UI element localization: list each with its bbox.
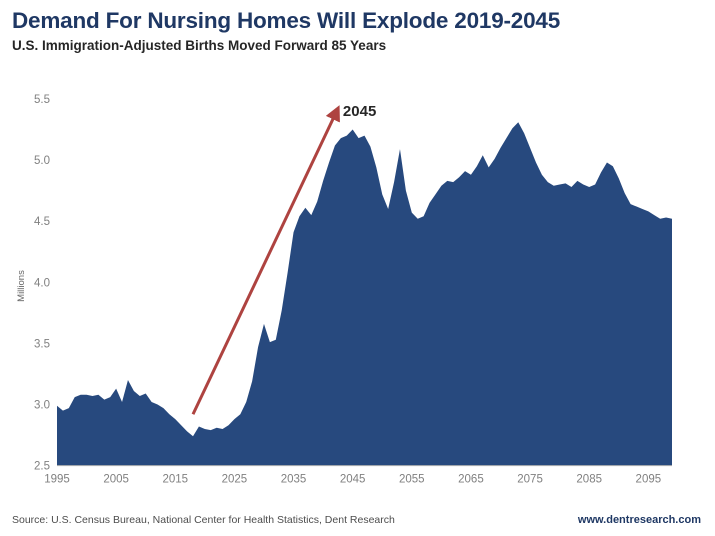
x-axis-ticks: 1995200520152025203520452055206520752085… — [44, 474, 661, 486]
x-tick-label: 2075 — [517, 474, 543, 486]
plot-area: 2.53.03.54.04.55.05.5 199520052015202520… — [0, 80, 715, 495]
x-tick-label: 1995 — [44, 474, 70, 486]
y-axis-ticks: 2.53.03.54.04.55.05.5 — [34, 94, 50, 473]
y-tick-label: 3.0 — [34, 400, 50, 412]
x-tick-label: 2035 — [281, 474, 307, 486]
website-link[interactable]: www.dentresearch.com — [578, 514, 701, 526]
y-tick-label: 3.5 — [34, 338, 50, 350]
chart-figure: Demand For Nursing Homes Will Explode 20… — [0, 0, 715, 536]
x-tick-label: 2085 — [576, 474, 602, 486]
source-note: Source: U.S. Census Bureau, National Cen… — [12, 514, 395, 526]
x-tick-label: 2045 — [340, 474, 366, 486]
x-tick-label: 2055 — [399, 474, 425, 486]
y-tick-label: 4.0 — [34, 277, 50, 289]
y-axis-title: Millions — [16, 270, 27, 302]
y-tick-label: 2.5 — [34, 461, 50, 473]
area-chart-svg: 2.53.03.54.04.55.05.5 199520052015202520… — [0, 80, 715, 495]
x-tick-label: 2025 — [222, 474, 248, 486]
x-tick-label: 2005 — [103, 474, 129, 486]
x-tick-label: 2095 — [636, 474, 662, 486]
y-tick-label: 5.0 — [34, 155, 50, 167]
x-tick-label: 2015 — [162, 474, 188, 486]
page-title: Demand For Nursing Homes Will Explode 20… — [12, 8, 560, 34]
y-tick-label: 4.5 — [34, 216, 50, 228]
page-subtitle: U.S. Immigration-Adjusted Births Moved F… — [12, 38, 386, 53]
x-tick-label: 2065 — [458, 474, 484, 486]
annotation-label-2045: 2045 — [343, 103, 376, 120]
series-area-nursing-home-demand — [57, 122, 672, 465]
y-tick-label: 5.5 — [34, 94, 50, 106]
